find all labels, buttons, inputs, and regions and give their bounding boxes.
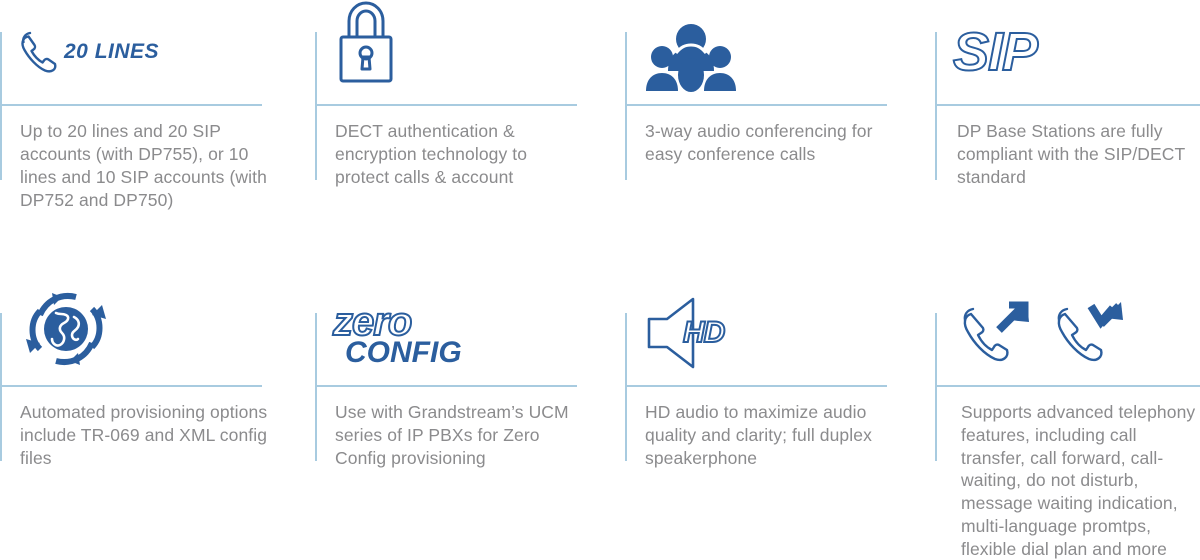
cell-horizontal-rule: [625, 385, 887, 387]
icon-zone: SIP: [953, 2, 1037, 102]
phone-handset-20-lines-icon: 20 LINES: [18, 30, 159, 74]
feature-cell-conferencing: 3-way audio conferencing for easy confer…: [625, 0, 925, 270]
icon-zone: HD: [643, 283, 724, 383]
sip-logo-icon: SIP: [953, 25, 1037, 79]
icon-label: 20 LINES: [64, 40, 159, 64]
speaker-hd-icon: HD: [643, 293, 724, 373]
cell-horizontal-rule: [935, 104, 1200, 106]
cell-vertical-rule: [315, 313, 317, 461]
feature-description: Up to 20 lines and 20 SIP accounts (with…: [20, 120, 270, 212]
zero-config-logo-icon: zero CONFIG: [333, 302, 462, 368]
feature-description: Use with Grandstream’s UCM series of IP …: [335, 401, 593, 470]
feature-description: Automated provisioning options include T…: [20, 401, 270, 470]
icon-zone: 20 LINES: [18, 2, 159, 102]
feature-cell-advanced-telephony: Supports advanced telephony features, in…: [935, 281, 1200, 559]
feature-cell-zero-config: zero CONFIG Use with Grandstream’s UCM s…: [315, 281, 615, 559]
padlock-icon: [333, 0, 399, 94]
config-word-label: CONFIG: [345, 338, 462, 368]
feature-description: DECT authentication & encryption technol…: [335, 120, 585, 189]
icon-zone: zero CONFIG: [333, 285, 462, 385]
cell-vertical-rule: [935, 32, 937, 180]
feature-description: DP Base Stations are fully compliant wit…: [957, 120, 1200, 189]
icon-zone: [18, 281, 114, 381]
cell-horizontal-rule: [315, 385, 577, 387]
cell-vertical-rule: [935, 313, 937, 461]
cell-horizontal-rule: [315, 104, 577, 106]
feature-grid: 20 LINES Up to 20 lines and 20 SIP accou…: [0, 0, 1200, 559]
feature-description: 3-way audio conferencing for easy confer…: [645, 120, 910, 166]
cell-vertical-rule: [315, 32, 317, 180]
call-forward-icon: [1055, 300, 1127, 375]
feature-cell-hd-audio: HD HD audio to maximize audio quality an…: [625, 281, 925, 559]
feature-description: Supports advanced telephony features, in…: [961, 401, 1200, 560]
cell-vertical-rule: [625, 313, 627, 461]
icon-zone: [333, 0, 399, 94]
feature-cell-sip-standard: SIP DP Base Stations are fully compliant…: [935, 0, 1200, 270]
feature-description: HD audio to maximize audio quality and c…: [645, 401, 895, 470]
feature-cell-dect-security: DECT authentication & encryption technol…: [315, 0, 615, 270]
cell-vertical-rule: [0, 313, 2, 461]
hd-label: HD: [683, 318, 724, 348]
call-transfer-icon: [961, 300, 1033, 375]
feature-cell-twenty-lines: 20 LINES Up to 20 lines and 20 SIP accou…: [0, 0, 300, 270]
icon-zone: [961, 287, 1127, 387]
icon-zone: [643, 10, 739, 110]
globe-refresh-arrows-icon: [18, 281, 114, 382]
cell-vertical-rule: [0, 32, 2, 180]
feature-cell-provisioning: Automated provisioning options include T…: [0, 281, 300, 559]
cell-vertical-rule: [625, 32, 627, 180]
cell-horizontal-rule: [0, 104, 262, 106]
three-people-conference-icon: [643, 23, 739, 98]
cell-horizontal-rule: [0, 385, 262, 387]
